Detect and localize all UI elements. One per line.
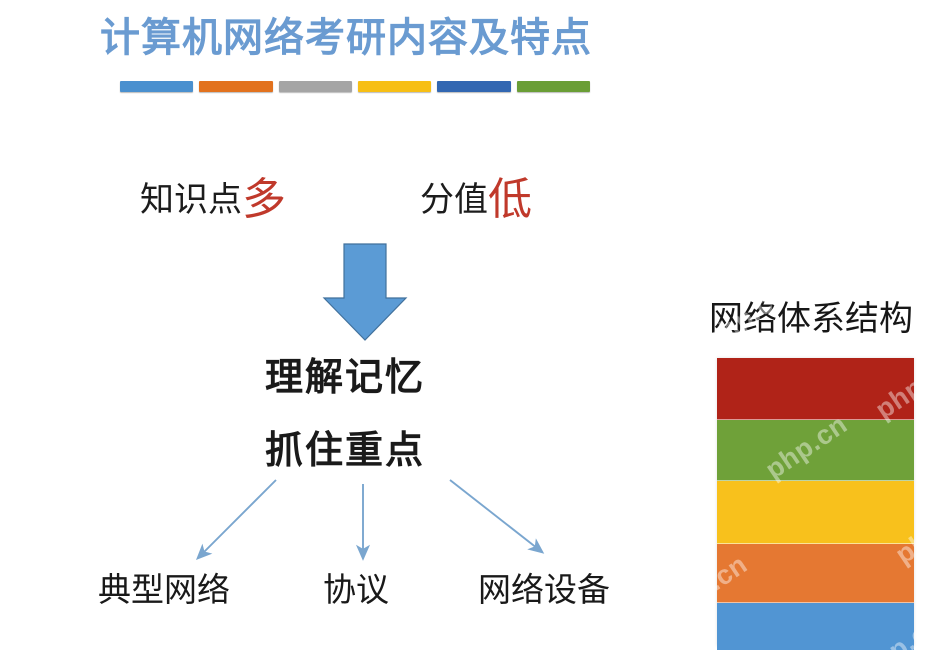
title-accent-bars bbox=[120, 81, 590, 93]
phrase-right-base: 分值 bbox=[420, 181, 488, 219]
layer-yellow bbox=[717, 481, 914, 544]
layer-orange bbox=[717, 544, 914, 603]
branch-arrows-group bbox=[150, 468, 590, 568]
bar-yellow bbox=[358, 81, 431, 92]
layer-red bbox=[717, 358, 914, 420]
layer-green bbox=[717, 420, 914, 481]
bar-orange bbox=[199, 81, 272, 92]
bar-blue bbox=[120, 81, 193, 92]
bar-green bbox=[517, 81, 590, 92]
page-title: 计算机网络考研内容及特点 bbox=[100, 12, 630, 64]
stack-title: 网络体系结构 bbox=[709, 298, 913, 340]
layer-blue bbox=[717, 603, 914, 650]
statement-understand-memorize: 理解记忆 bbox=[265, 355, 425, 401]
phrase-right-accent: 低 bbox=[488, 175, 532, 224]
branch-arrow-right bbox=[450, 480, 542, 552]
phrase-score-low: 分值低 bbox=[420, 180, 532, 220]
phrase-left-accent: 多 bbox=[242, 175, 286, 224]
phrase-left-base: 知识点 bbox=[140, 181, 242, 219]
down-arrow-icon bbox=[322, 242, 408, 342]
leaf-label-protocol: 协议 bbox=[323, 570, 389, 610]
leaf-label-typical-network: 典型网络 bbox=[98, 570, 230, 610]
slide-canvas: 计算机网络考研内容及特点 知识点多 分值低 理解记忆 抓住重点 典型网络 协议 … bbox=[0, 0, 951, 663]
bar-dark-blue bbox=[437, 81, 510, 92]
leaf-label-network-device: 网络设备 bbox=[478, 570, 610, 610]
network-architecture-stack bbox=[717, 358, 914, 646]
branch-arrow-left bbox=[198, 480, 276, 558]
phrase-knowledge-many: 知识点多 bbox=[140, 180, 286, 220]
bar-gray bbox=[279, 81, 352, 92]
